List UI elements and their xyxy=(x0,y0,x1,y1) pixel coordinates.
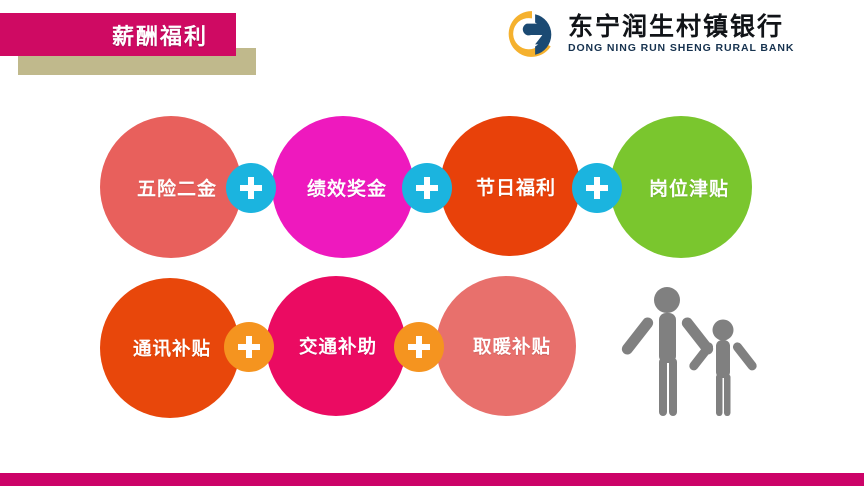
plus-icon xyxy=(394,322,444,372)
benefit-label: 通讯补贴 xyxy=(133,335,211,361)
benefit-label: 五险二金 xyxy=(137,174,217,201)
benefit-label: 取暖补贴 xyxy=(473,333,551,359)
footer-bar xyxy=(0,473,864,486)
slide-canvas: 薪酬福利 东宁润生村镇银行 DONG NING RUN SHENG RURAL … xyxy=(0,0,864,486)
plus-icon xyxy=(226,163,276,213)
plus-icon xyxy=(572,163,622,213)
brand-logo: 东宁润生村镇银行 DONG NING RUN SHENG RURAL BANK xyxy=(506,8,794,60)
benefit-label: 节日福利 xyxy=(476,173,556,200)
benefit-label: 岗位津贴 xyxy=(649,174,729,201)
bank-logo-icon xyxy=(506,8,558,60)
benefits-diagram: 五险二金 绩效奖金 节日福利 岗位津贴 通讯补贴 xyxy=(0,96,864,456)
benefit-bubble[interactable]: 五险二金 xyxy=(100,116,242,258)
plus-icon xyxy=(402,163,452,213)
plus-icon xyxy=(224,322,274,372)
benefit-bubble[interactable]: 通讯补贴 xyxy=(100,278,240,418)
brand-name-en: DONG NING RUN SHENG RURAL BANK xyxy=(568,42,794,54)
benefit-label: 绩效奖金 xyxy=(307,174,387,201)
benefit-bubble[interactable]: 岗位津贴 xyxy=(610,116,752,258)
two-people-cheering-icon xyxy=(618,278,768,428)
benefit-bubble[interactable]: 取暖补贴 xyxy=(436,276,576,416)
page-title: 薪酬福利 xyxy=(112,19,208,51)
benefit-bubble[interactable]: 节日福利 xyxy=(440,116,580,256)
brand-name-block: 东宁润生村镇银行 DONG NING RUN SHENG RURAL BANK xyxy=(568,14,794,54)
brand-name-cn: 东宁润生村镇银行 xyxy=(568,14,794,40)
title-banner: 薪酬福利 xyxy=(0,13,236,56)
benefit-label: 交通补助 xyxy=(299,333,377,359)
benefit-bubble[interactable]: 交通补助 xyxy=(266,276,406,416)
benefit-bubble[interactable]: 绩效奖金 xyxy=(272,116,414,258)
